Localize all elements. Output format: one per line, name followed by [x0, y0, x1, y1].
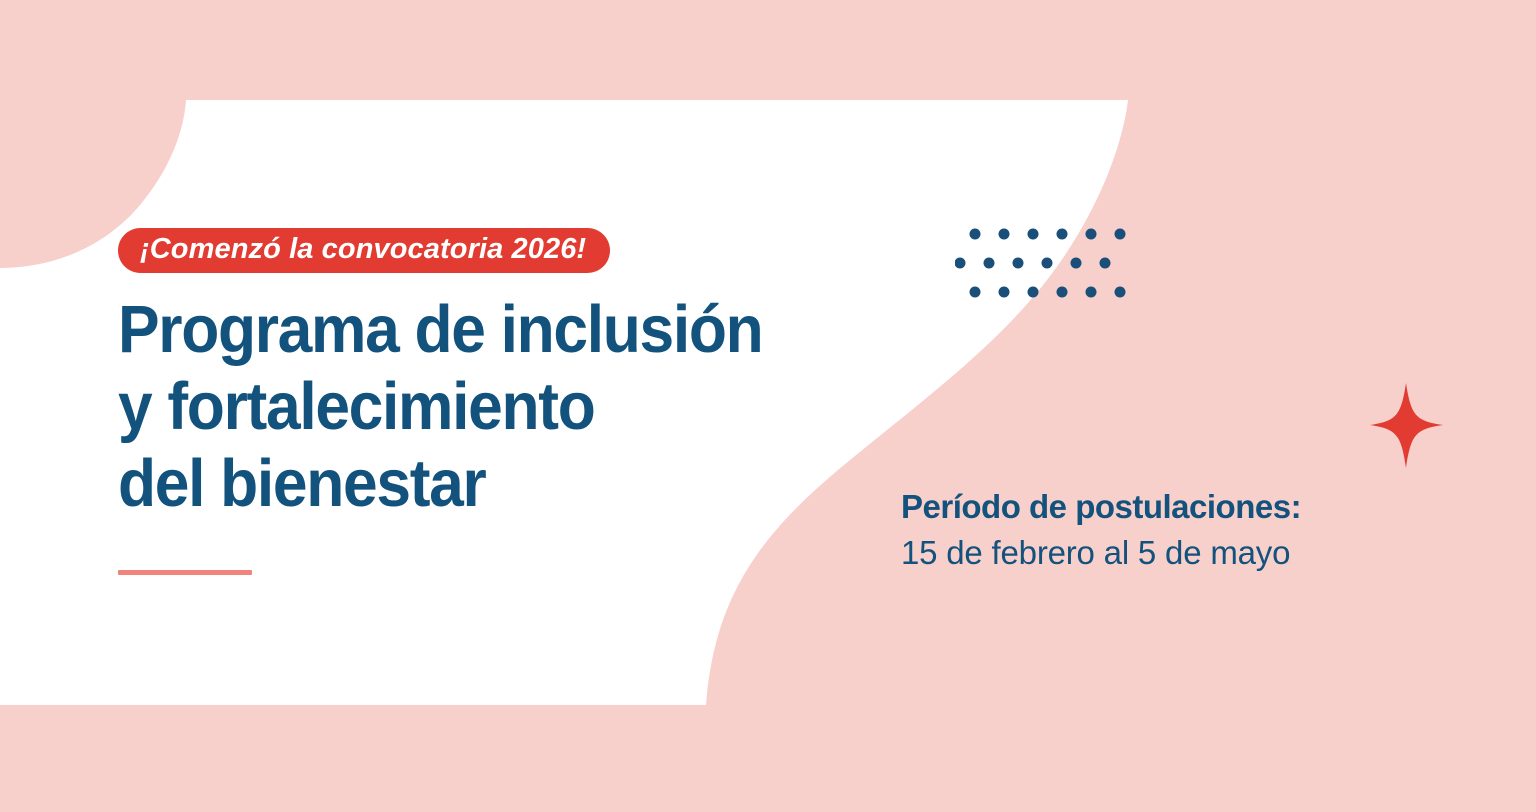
grid-dot	[1057, 229, 1068, 240]
application-period-dates: 15 de febrero al 5 de mayo	[901, 533, 1371, 573]
grid-dot	[1115, 229, 1126, 240]
grid-dot	[1013, 258, 1024, 269]
grid-dot	[955, 258, 966, 269]
grid-dot	[1086, 229, 1097, 240]
accent-rule	[118, 570, 252, 575]
grid-dot	[999, 287, 1010, 298]
grid-dot	[999, 229, 1010, 240]
grid-dot	[1028, 229, 1039, 240]
page-title: Programa de inclusión y fortalecimiento …	[118, 291, 825, 522]
grid-dot	[1086, 287, 1097, 298]
promo-banner: ¡Comenzó la convocatoria 2026! Programa …	[0, 0, 1536, 812]
headline-line-1: Programa de inclusión	[118, 291, 825, 368]
application-period-label: Período de postulaciones:	[901, 488, 1371, 527]
grid-dot	[1028, 287, 1039, 298]
dot-grid-decoration	[955, 222, 1145, 308]
grid-dot	[1100, 258, 1111, 269]
grid-dot	[984, 258, 995, 269]
headline-line-3: del bienestar	[118, 445, 825, 522]
grid-dot	[1057, 287, 1068, 298]
right-content-column: Período de postulaciones: 15 de febrero …	[901, 488, 1371, 573]
grid-dot	[1115, 287, 1126, 298]
grid-dot	[970, 287, 981, 298]
grid-dot	[1071, 258, 1082, 269]
headline-line-2: y fortalecimiento	[118, 368, 825, 445]
grid-dot	[970, 229, 981, 240]
grid-dot	[1042, 258, 1053, 269]
convocatoria-badge: ¡Comenzó la convocatoria 2026!	[118, 228, 610, 273]
left-content-column: ¡Comenzó la convocatoria 2026! Programa …	[118, 228, 878, 575]
